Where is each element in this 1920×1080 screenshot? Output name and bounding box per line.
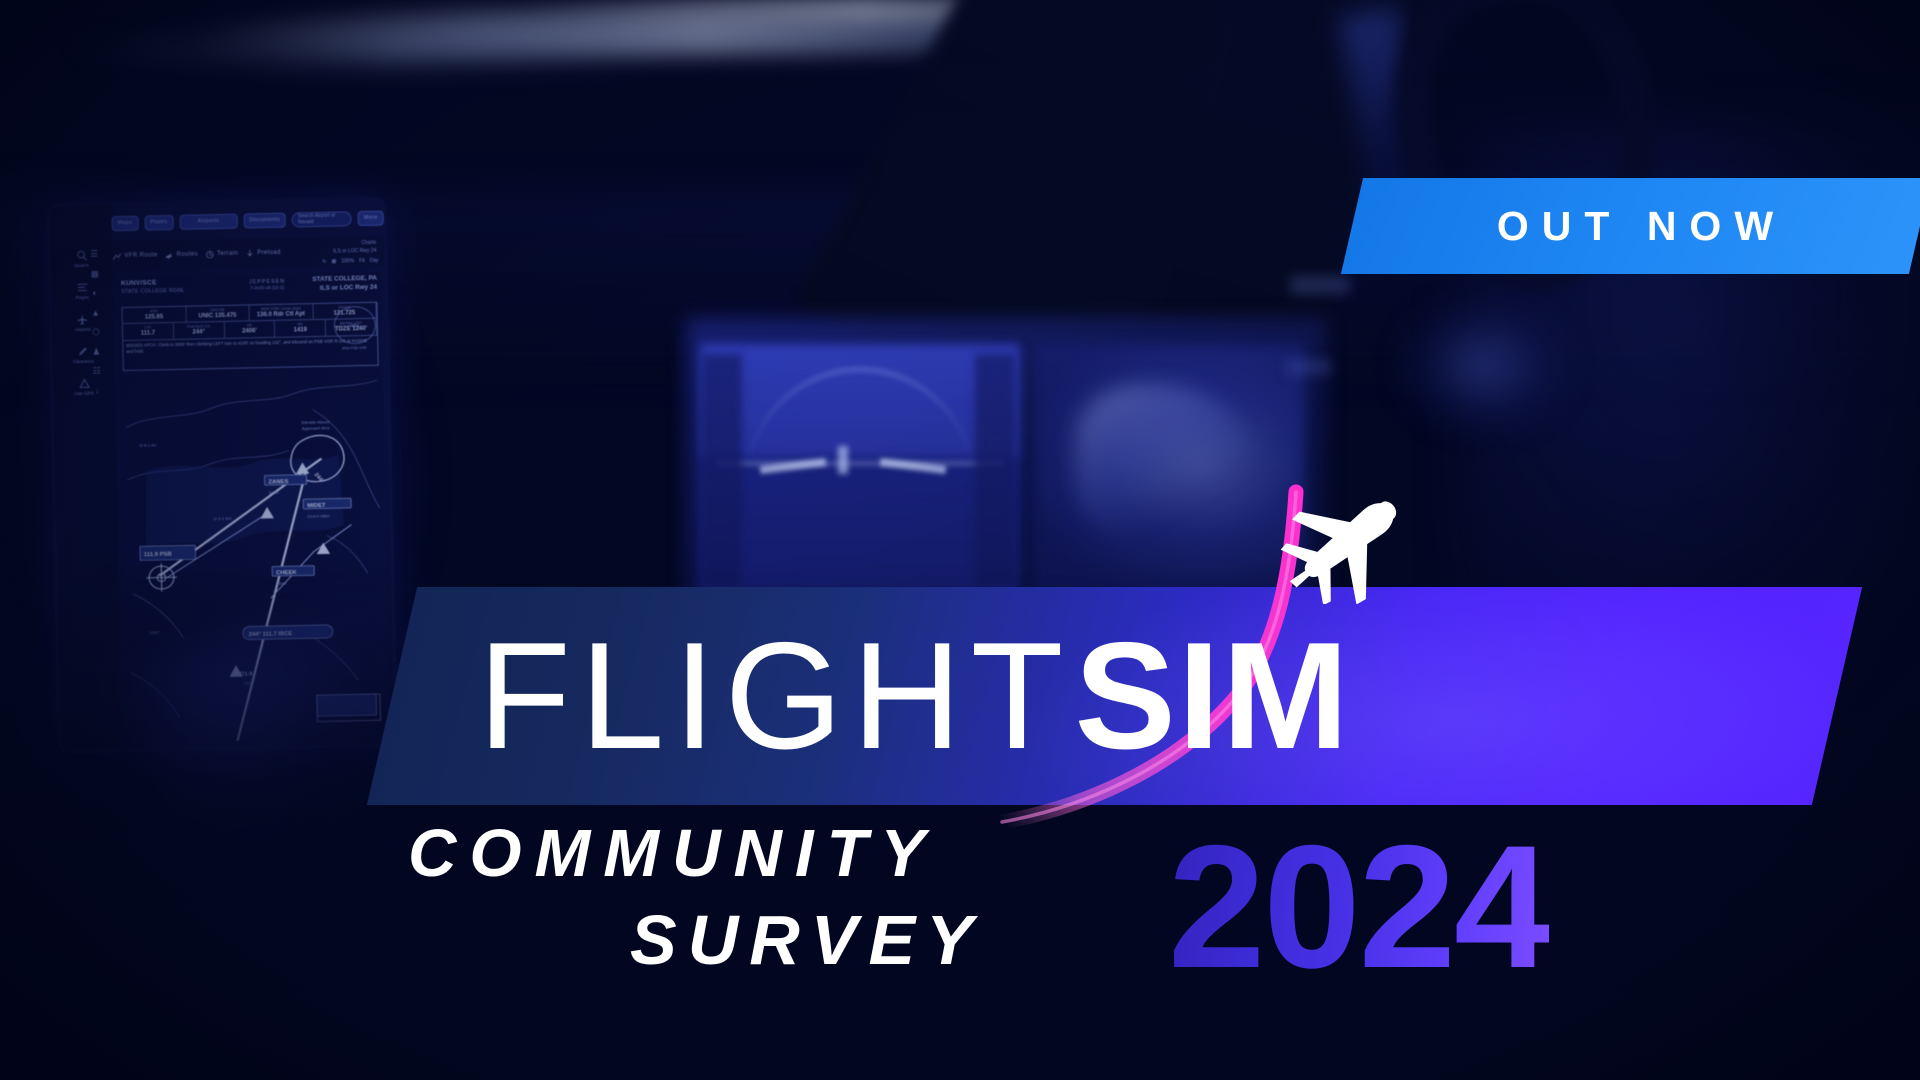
survey-year: 2024	[1168, 820, 1549, 995]
airplane-icon	[1272, 482, 1430, 604]
survey-tagline: COMMUNITY SURVEY	[390, 820, 984, 975]
out-now-badge[interactable]: OUT NOW	[1341, 178, 1920, 274]
wordmark-sim: SIM	[1074, 620, 1350, 772]
flightsim-wordmark: FLIGHT SIM	[392, 587, 1837, 805]
wordmark-flight: FLIGHT	[478, 620, 1072, 772]
tagline-line-community: COMMUNITY	[390, 820, 984, 887]
out-now-badge-label: OUT NOW	[1485, 203, 1786, 250]
poster-canvas: Maps Plates Airports Documents Search Ai…	[0, 0, 1920, 1080]
tagline-line-survey: SURVEY	[390, 905, 984, 975]
